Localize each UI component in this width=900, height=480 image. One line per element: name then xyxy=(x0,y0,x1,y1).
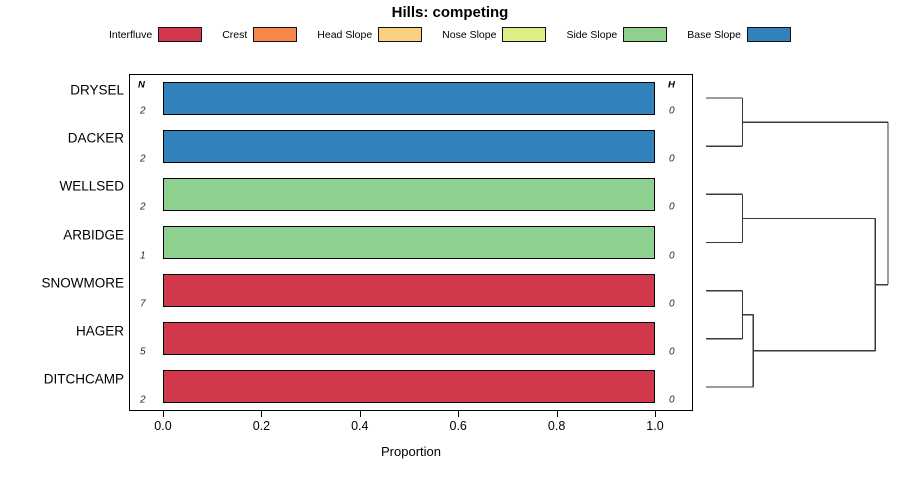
x-tick-label: 0.2 xyxy=(253,419,270,433)
x-tick-mark xyxy=(261,411,262,417)
legend-item-crest: Crest xyxy=(222,27,297,42)
x-tick-mark xyxy=(557,411,558,417)
bar-ditchcamp-interfluve[interactable] xyxy=(163,370,655,403)
legend-swatch xyxy=(623,27,667,42)
n-value-arbidge: 1 xyxy=(140,250,146,261)
n-value-dacker: 2 xyxy=(140,154,146,165)
row-label-snowmore: SNOWMORE xyxy=(0,275,124,290)
row-label-ditchcamp: DITCHCAMP xyxy=(0,371,124,386)
n-column: N2221752 xyxy=(129,74,163,411)
legend-label: Head Slope xyxy=(317,29,372,41)
legend-label: Side Slope xyxy=(566,29,617,41)
n-value-drysel: 2 xyxy=(140,106,146,117)
x-tick-label: 0.0 xyxy=(154,419,171,433)
legend-swatch xyxy=(502,27,546,42)
x-tick-label: 1.0 xyxy=(646,419,663,433)
row-label-wellsed: WELLSED xyxy=(0,179,124,194)
bar-wellsed-side-slope[interactable] xyxy=(163,178,655,211)
bar-drysel-base-slope[interactable] xyxy=(163,82,655,115)
row-label-dacker: DACKER xyxy=(0,131,124,146)
legend-item-interfluve: Interfluve xyxy=(109,27,202,42)
legend-swatch xyxy=(378,27,422,42)
n-column-header: N xyxy=(138,80,145,91)
x-tick-mark xyxy=(458,411,459,417)
legend: InterfluveCrestHead SlopeNose SlopeSide … xyxy=(0,27,900,42)
h-value-arbidge: 0 xyxy=(669,250,675,261)
dendrogram xyxy=(700,74,896,411)
x-tick-label: 0.8 xyxy=(548,419,565,433)
bar-dacker-base-slope[interactable] xyxy=(163,130,655,163)
n-value-wellsed: 2 xyxy=(140,202,146,213)
x-tick-label: 0.4 xyxy=(351,419,368,433)
legend-label: Interfluve xyxy=(109,29,152,41)
h-value-hager: 0 xyxy=(669,346,675,357)
legend-label: Crest xyxy=(222,29,247,41)
x-tick-label: 0.6 xyxy=(449,419,466,433)
legend-label: Base Slope xyxy=(687,29,741,41)
x-axis-title: Proportion xyxy=(129,444,693,459)
x-axis: 0.00.20.40.60.81.0 xyxy=(129,411,693,441)
n-value-snowmore: 7 xyxy=(140,298,146,309)
legend-label: Nose Slope xyxy=(442,29,496,41)
legend-item-head-slope: Head Slope xyxy=(317,27,422,42)
x-tick-mark xyxy=(360,411,361,417)
page-title: Hills: competing xyxy=(0,4,900,21)
n-value-hager: 5 xyxy=(140,346,146,357)
legend-item-base-slope: Base Slope xyxy=(687,27,791,42)
row-label-arbidge: ARBIDGE xyxy=(0,227,124,242)
n-value-ditchcamp: 2 xyxy=(140,394,146,405)
legend-swatch xyxy=(253,27,297,42)
h-column-header: H xyxy=(668,80,675,91)
bar-snowmore-interfluve[interactable] xyxy=(163,274,655,307)
h-value-dacker: 0 xyxy=(669,154,675,165)
legend-item-side-slope: Side Slope xyxy=(566,27,667,42)
h-column: H0000000 xyxy=(655,74,693,411)
legend-swatch xyxy=(158,27,202,42)
h-value-ditchcamp: 0 xyxy=(669,394,675,405)
x-tick-mark xyxy=(655,411,656,417)
row-label-hager: HAGER xyxy=(0,323,124,338)
dendrogram-svg xyxy=(700,74,896,411)
x-tick-mark xyxy=(163,411,164,417)
h-value-drysel: 0 xyxy=(669,106,675,117)
legend-item-nose-slope: Nose Slope xyxy=(442,27,546,42)
h-value-wellsed: 0 xyxy=(669,202,675,213)
row-label-axis: DRYSELDACKERWELLSEDARBIDGESNOWMOREHAGERD… xyxy=(0,74,124,411)
legend-swatch xyxy=(747,27,791,42)
row-label-drysel: DRYSEL xyxy=(0,83,124,98)
bar-hager-interfluve[interactable] xyxy=(163,322,655,355)
h-value-snowmore: 0 xyxy=(669,298,675,309)
bar-arbidge-side-slope[interactable] xyxy=(163,226,655,259)
